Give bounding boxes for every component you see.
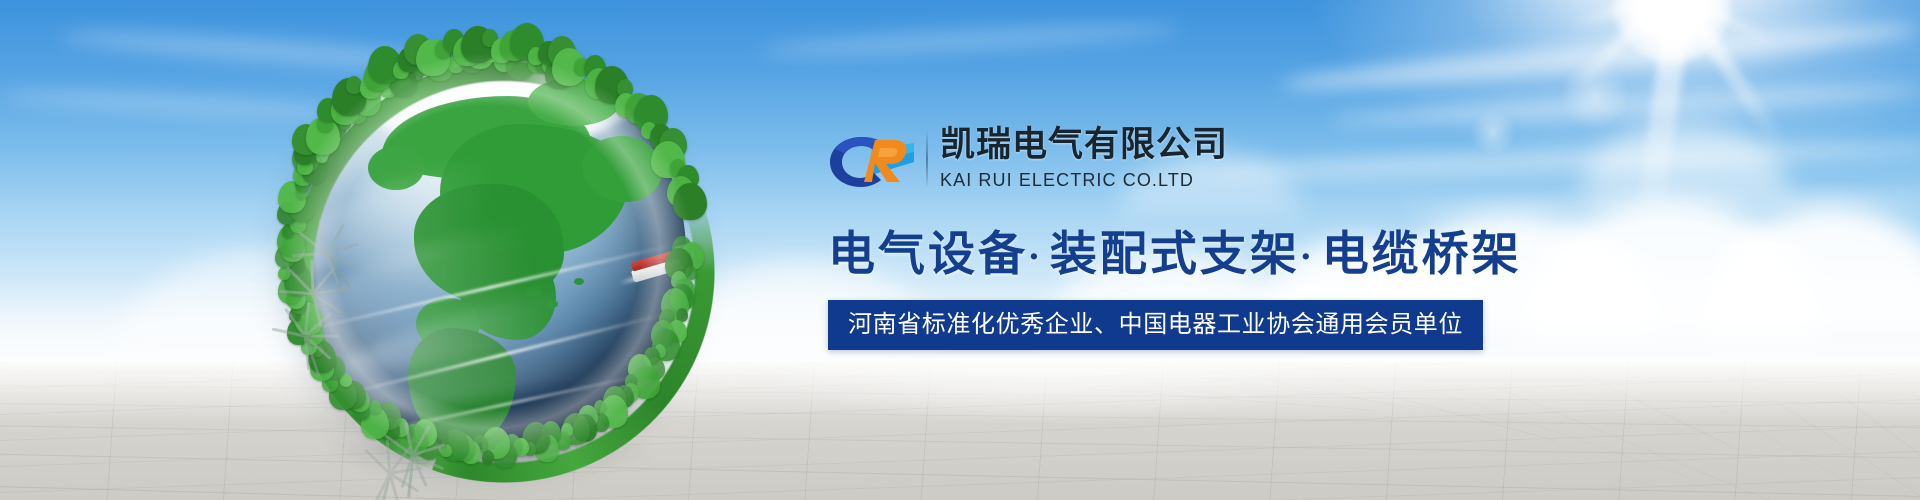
slogan-separator: · bbox=[1028, 237, 1050, 277]
slogan-separator: · bbox=[1300, 237, 1322, 277]
slogan-part-3: 电缆桥架 bbox=[1322, 227, 1522, 282]
lens-flare bbox=[1560, 60, 1630, 130]
slogan-part-1: 电气设备 bbox=[828, 227, 1028, 282]
cloud-wisp bbox=[760, 19, 1180, 61]
company-name-en: KAI RUI ELECTRIC CO.LTD bbox=[940, 168, 1228, 192]
ground-glare bbox=[700, 362, 1400, 500]
earth-globe-graphic bbox=[278, 46, 700, 476]
cloud bbox=[1580, 120, 1790, 198]
hero-banner: 凯瑞电气有限公司 KAI RUI ELECTRIC CO.LTD 电气设备·装配… bbox=[0, 0, 1920, 500]
slogan-part-2: 装配式支架 bbox=[1050, 227, 1300, 282]
kairui-logo-icon bbox=[828, 128, 916, 190]
brand-row: 凯瑞电气有限公司 KAI RUI ELECTRIC CO.LTD bbox=[828, 124, 1528, 200]
globe-glow bbox=[256, 24, 722, 490]
slogan: 电气设备·装配式支架·电缆桥架 bbox=[828, 226, 1528, 286]
company-name-cn: 凯瑞电气有限公司 bbox=[940, 124, 1228, 166]
banner-content: 凯瑞电气有限公司 KAI RUI ELECTRIC CO.LTD 电气设备·装配… bbox=[828, 124, 1528, 350]
certification-badge: 河南省标准化优秀企业、中国电器工业协会通用会员单位 bbox=[828, 300, 1483, 350]
logo-divider bbox=[926, 132, 928, 186]
company-names: 凯瑞电气有限公司 KAI RUI ELECTRIC CO.LTD bbox=[940, 124, 1228, 192]
